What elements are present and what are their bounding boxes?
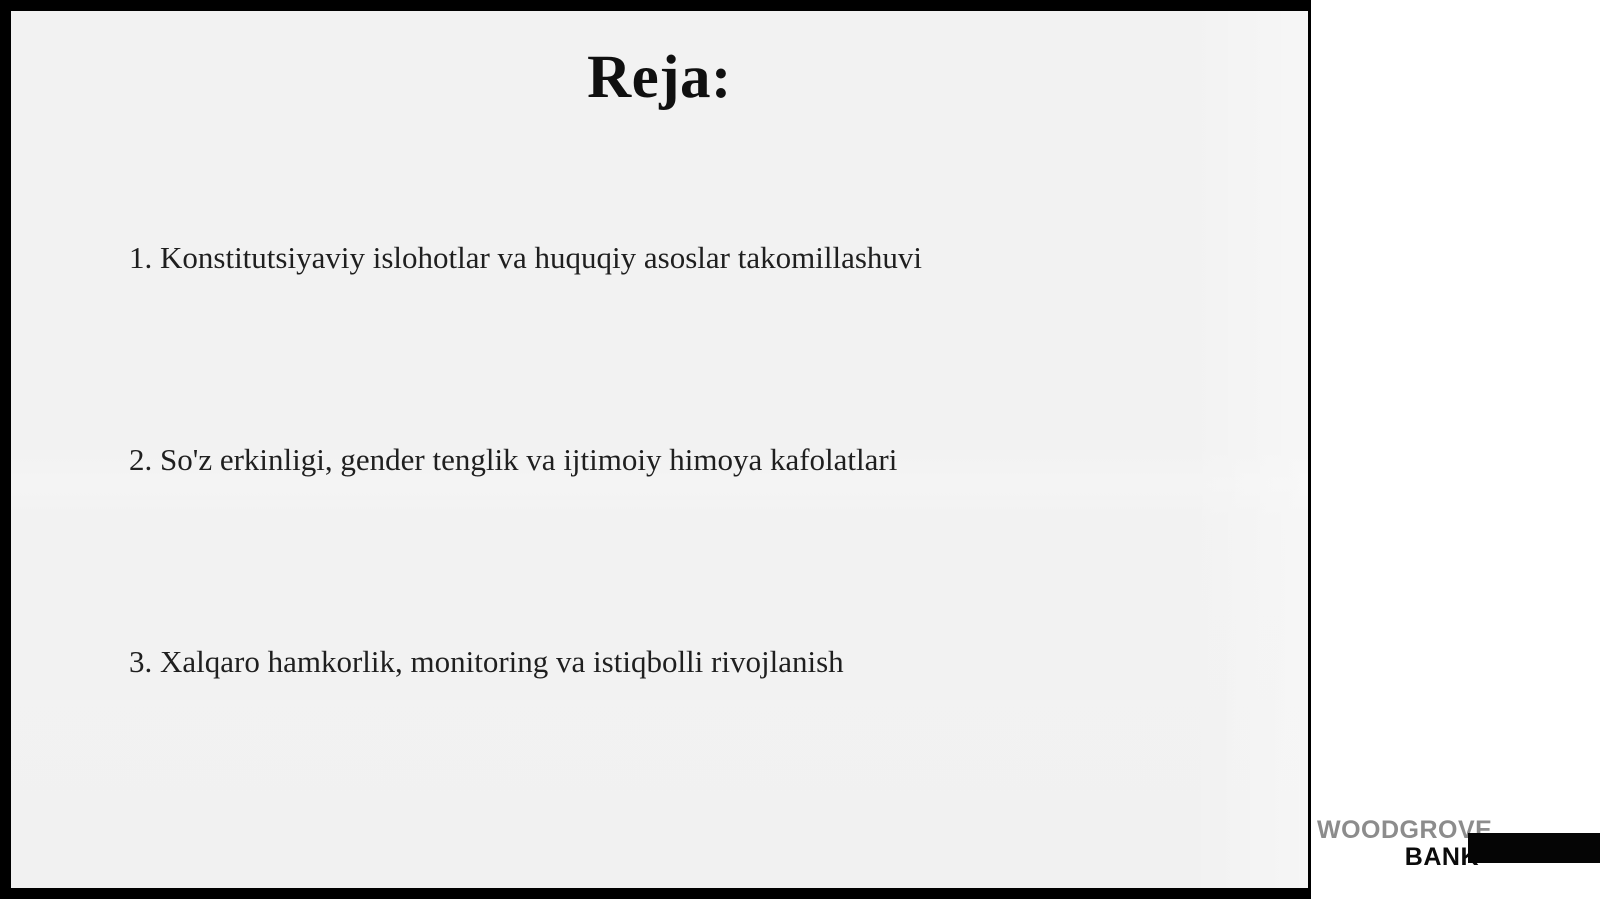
list-item: 3. Xalqaro hamkorlik, monitoring va isti… (129, 643, 1229, 682)
agenda-list: 1. Konstitutsiyaviy islohotlar va huquqi… (129, 239, 1229, 682)
brand-logo: WOODGROVE BANK (1317, 812, 1600, 872)
presentation-slide: Reja: 1. Konstitutsiyaviy islohotlar va … (11, 11, 1308, 888)
list-item: 2. So'z erkinligi, gender tenglik va ijt… (129, 441, 1229, 643)
page-title: Reja: (11, 44, 1308, 111)
brand-subtext: BANK (1317, 845, 1479, 870)
list-item: 1. Konstitutsiyaviy islohotlar va huquqi… (129, 239, 1229, 441)
brand-block-icon (1468, 833, 1600, 863)
brand-wordmark: WOODGROVE (1317, 818, 1479, 843)
